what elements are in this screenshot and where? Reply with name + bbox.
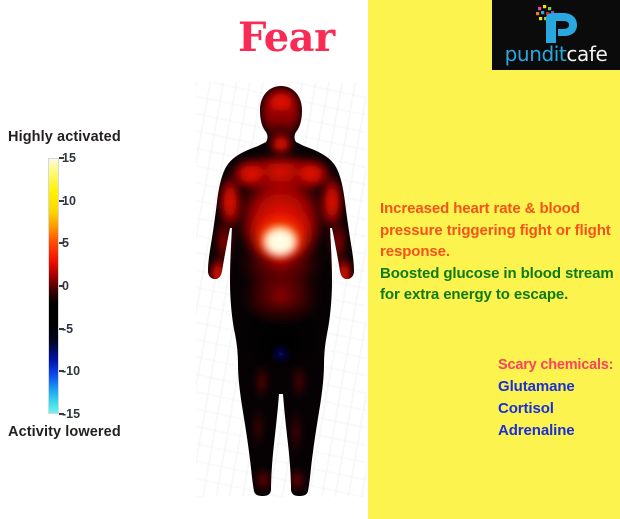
colorbar (48, 158, 59, 414)
chemical-item: Adrenaline (498, 420, 620, 442)
infographic-canvas: Highly activated Activity lowered Fear (0, 0, 620, 519)
chemicals-heading: Scary chemicals: (498, 357, 620, 373)
symptom-glucose-text: Boosted glucose in blood stream for extr… (380, 263, 618, 306)
chemical-item: Cortisol (498, 398, 620, 420)
symptom-heart-rate-text: Increased heart rate & blood pressure tr… (380, 198, 618, 263)
logo-wordmark: punditcafe (492, 44, 620, 64)
page-title: Fear (238, 18, 335, 58)
colorbar-tick-label: -15 (62, 407, 80, 421)
body-silhouette-heatmap (196, 82, 366, 497)
colorbar-tick-label: 0 (62, 279, 69, 293)
chemical-item: Glutamane (498, 376, 620, 398)
symptom-text-block: Increased heart rate & blood pressure tr… (380, 198, 618, 306)
logo-word-pundit: pundit (505, 42, 567, 66)
brand-logo[interactable]: punditcafe (492, 0, 620, 70)
colorbar-tick-label: 5 (62, 236, 69, 250)
heat-blobs (208, 82, 354, 493)
colorbar-tick-label: 15 (62, 151, 76, 165)
heatmap-layers (196, 82, 366, 497)
body-heatmap (196, 82, 366, 497)
pundit-p-logo-icon (534, 5, 580, 45)
legend-top-label: Highly activated (8, 129, 121, 145)
colorbar-gradient (48, 158, 59, 414)
colorbar-tick-label: -5 (62, 322, 73, 336)
info-panel: punditcafe Increased heart rate & blood … (368, 0, 620, 519)
colorbar-tick-label: 10 (62, 194, 76, 208)
legend-bottom-label: Activity lowered (8, 424, 121, 440)
logo-word-cafe: cafe (566, 42, 607, 66)
chemicals-block: Scary chemicals: Glutamane Cortisol Adre… (498, 357, 620, 443)
colorbar-tick-label: -10 (62, 364, 80, 378)
